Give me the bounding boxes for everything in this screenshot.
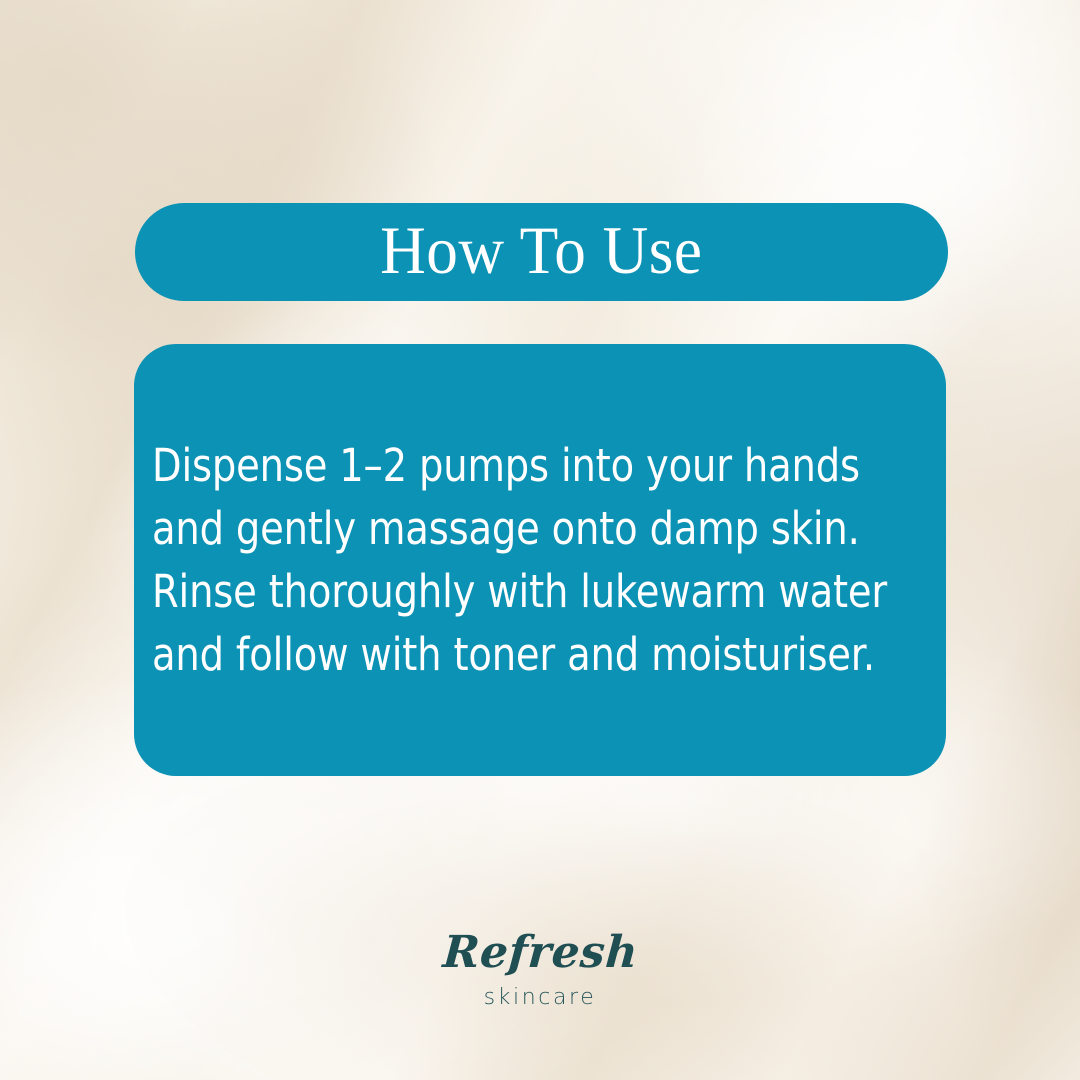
poster-canvas: How To Use Dispense 1–2 pumps into your … bbox=[0, 0, 1080, 1080]
instruction-line: and gently massage onto damp skin. bbox=[152, 497, 815, 560]
title-pill: How To Use bbox=[135, 203, 948, 301]
brand-logo: Refresh skincare bbox=[0, 928, 1080, 1012]
instruction-line: and follow with toner and moisturiser. bbox=[152, 623, 815, 686]
instructions-card: Dispense 1–2 pumps into your hands and g… bbox=[134, 344, 946, 776]
page-title: How To Use bbox=[380, 216, 702, 288]
instruction-line: Rinse thoroughly with lukewarm water bbox=[152, 560, 815, 623]
brand-wordmark: Refresh bbox=[441, 928, 639, 978]
brand-tagline: skincare bbox=[484, 984, 597, 1012]
instruction-line: Dispense 1–2 pumps into your hands bbox=[152, 434, 815, 497]
